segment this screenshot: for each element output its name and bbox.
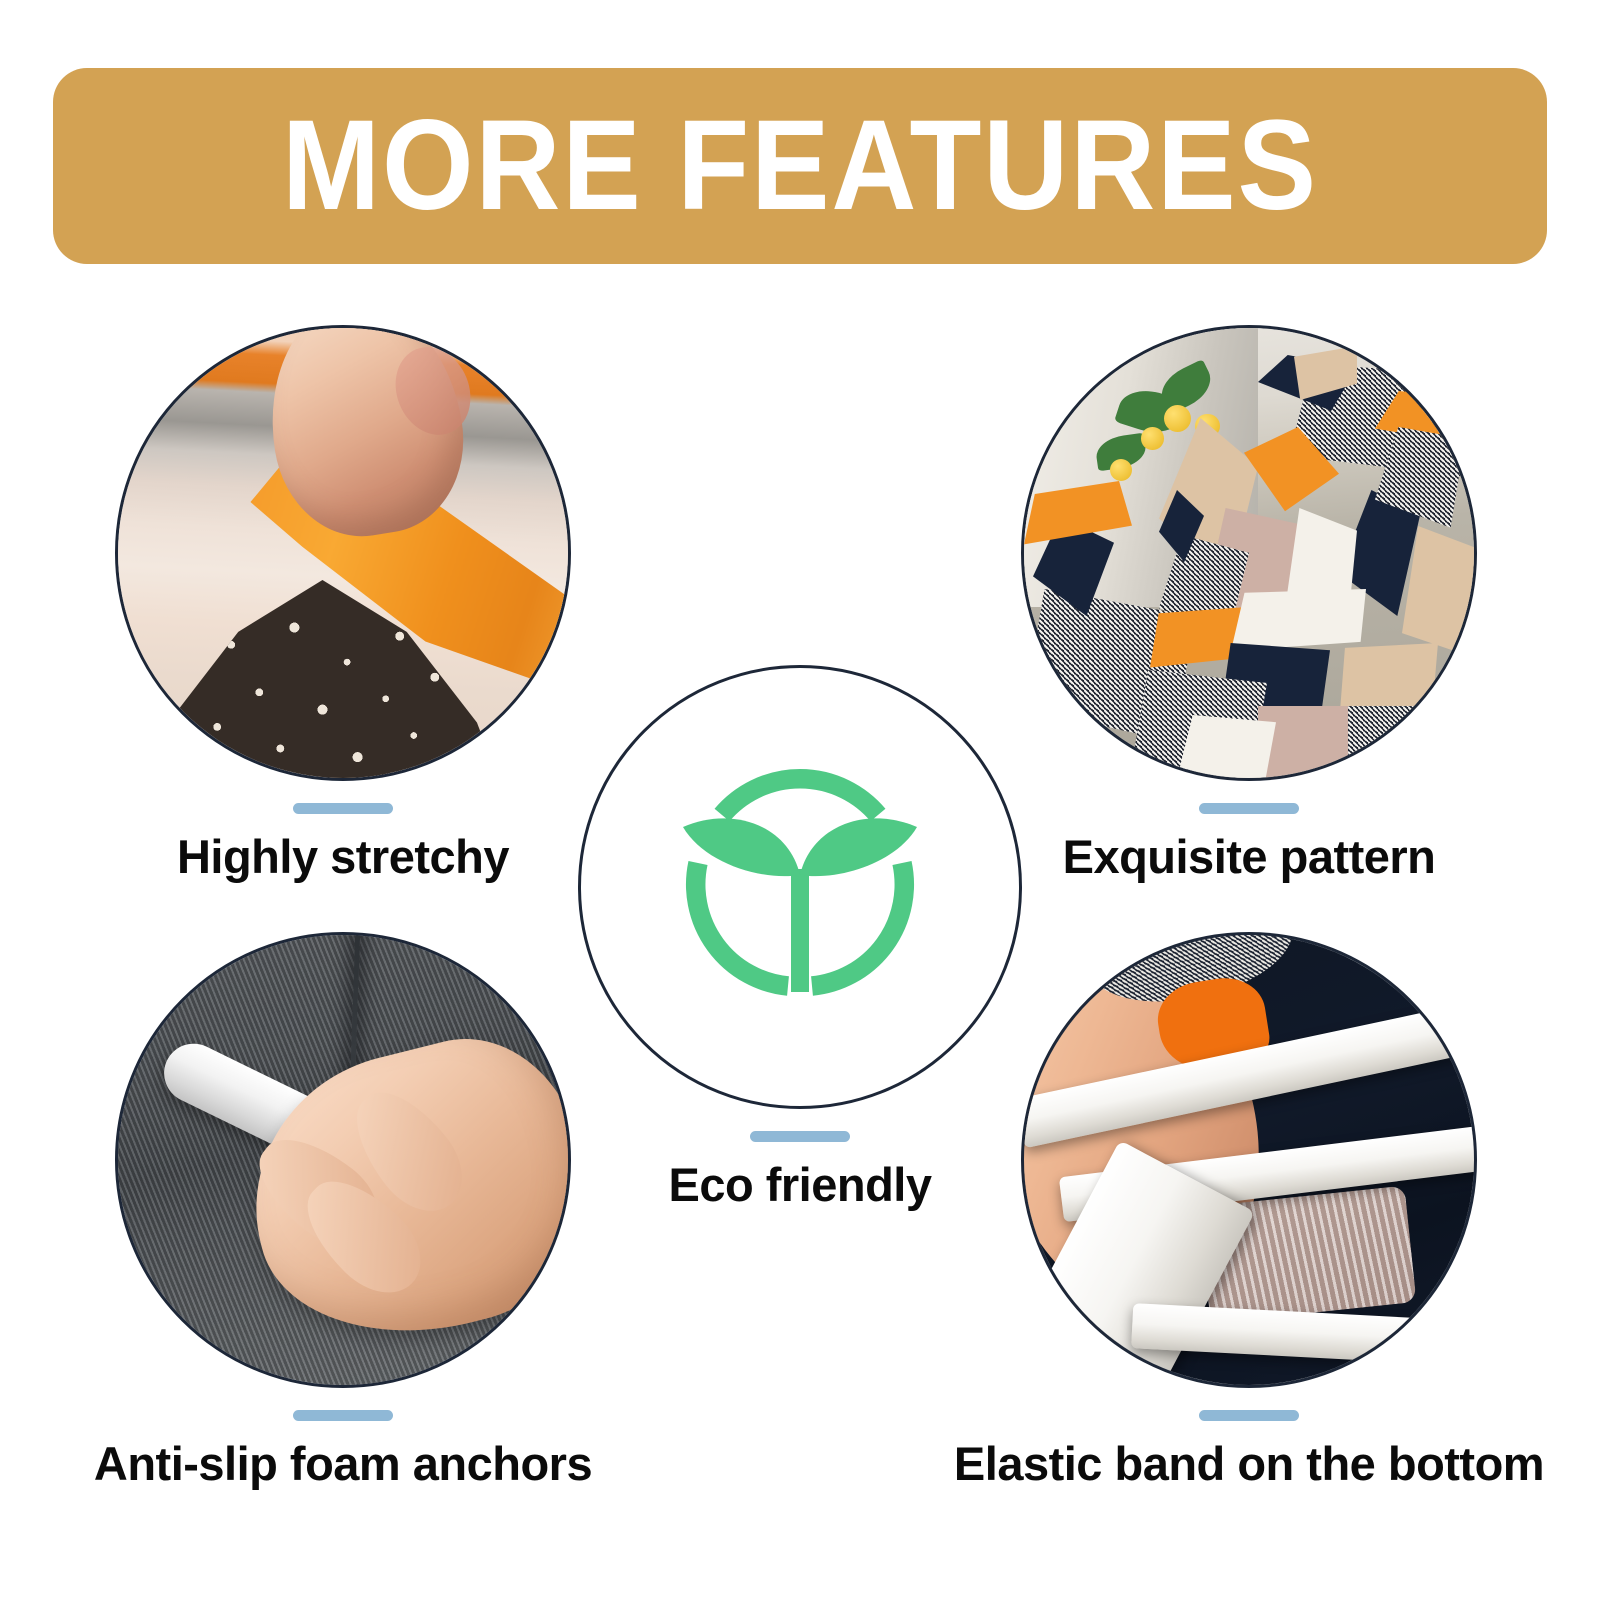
feature-label-elastic-band-on-the-bottom: Elastic band on the bottom	[954, 1439, 1544, 1488]
photo-foam-rod-image	[118, 935, 568, 1385]
elastic-strap-graphic	[1131, 1303, 1477, 1368]
eco-badge-circle	[578, 665, 1022, 1109]
lemon-graphic	[1164, 405, 1191, 432]
photo-fabric-stretch-image	[118, 328, 568, 778]
feature-label-exquisite-pattern: Exquisite pattern	[1063, 832, 1436, 881]
photo-patchwork-sofa-image	[1024, 328, 1474, 778]
feature-anti-slip-foam-anchors: Anti-slip foam anchors	[112, 932, 574, 1488]
seat-speckled-panel	[1348, 706, 1474, 781]
feature-label-anti-slip-foam-anchors: Anti-slip foam anchors	[94, 1439, 592, 1488]
photo-exquisite-pattern	[1021, 325, 1477, 781]
feature-elastic-band-on-the-bottom: Elastic band on the bottom	[1018, 932, 1480, 1488]
seat-white-panel	[1231, 589, 1366, 652]
feature-label-highly-stretchy: Highly stretchy	[177, 832, 509, 881]
feature-eco-friendly: Eco friendly	[578, 665, 1022, 1209]
header-banner: MORE FEATURES	[53, 68, 1547, 264]
seat-white-panel	[1177, 715, 1276, 781]
feature-label-eco-friendly: Eco friendly	[668, 1160, 931, 1209]
photo-elastic-band	[1021, 932, 1477, 1388]
photo-highly-stretchy	[115, 325, 571, 781]
accent-bar	[750, 1131, 850, 1142]
accent-bar	[293, 803, 393, 814]
photo-anti-slip-foam-anchors	[115, 932, 571, 1388]
lemon-graphic	[1110, 459, 1133, 482]
photo-elastic-straps-image	[1024, 935, 1474, 1385]
eco-sprout-icon	[650, 737, 950, 1037]
feature-exquisite-pattern: Exquisite pattern	[1018, 325, 1480, 881]
page-title: MORE FEATURES	[282, 102, 1318, 230]
accent-bar	[293, 1410, 393, 1421]
accent-bar	[1199, 803, 1299, 814]
lemon-graphic	[1141, 427, 1164, 450]
accent-bar	[1199, 1410, 1299, 1421]
feature-highly-stretchy: Highly stretchy	[112, 325, 574, 881]
